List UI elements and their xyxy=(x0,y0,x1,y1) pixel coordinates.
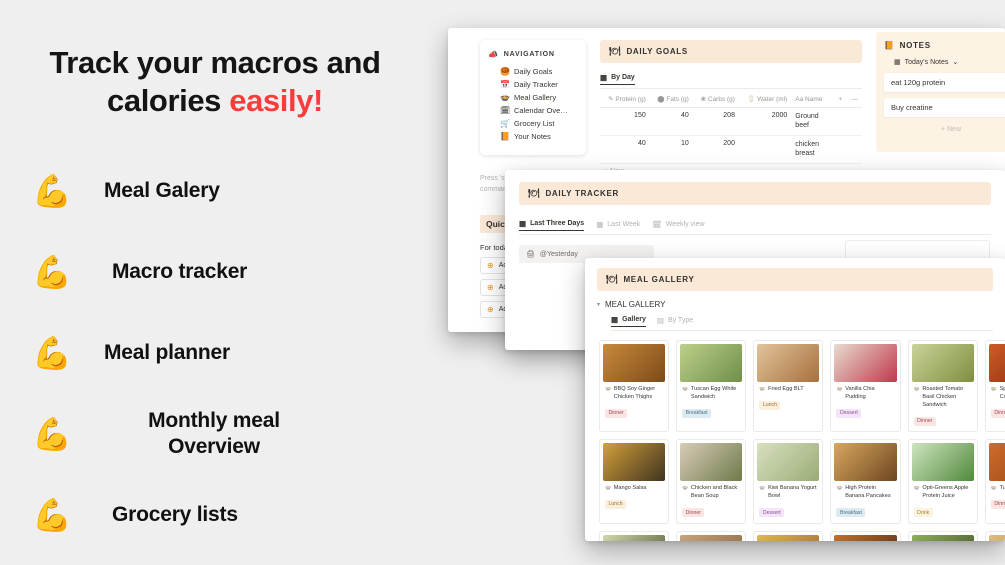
cell-water[interactable]: 2000 xyxy=(739,108,791,136)
meal-card[interactable]: 🍲Vanilla Chia PuddingDessert xyxy=(830,340,900,432)
tab-label: Gallery xyxy=(622,316,646,323)
notes-items: eat 120g proteinBuy creatine xyxy=(884,73,1005,117)
status-badge: Dinner xyxy=(991,500,1005,509)
status-badge: Drink xyxy=(914,508,933,517)
note-item-2[interactable]: Buy creatine xyxy=(884,98,1005,117)
feature-item-1: 💪Meal Galery xyxy=(0,150,430,231)
meal-thumbnail xyxy=(834,443,896,481)
meal-thumbnail xyxy=(912,535,974,541)
tab-label: By Day xyxy=(611,74,635,81)
headline-accent: easily! xyxy=(229,83,323,118)
headline-line-2: calories xyxy=(107,83,229,118)
meal-icon: 🍲 xyxy=(914,484,920,492)
cell-carbs[interactable]: 200 xyxy=(693,135,739,163)
nav-glyph-icon: 📙 xyxy=(500,132,509,141)
chevron-down-icon: ⌄ xyxy=(952,58,958,66)
feature-label: Macro tracker xyxy=(104,259,247,285)
cell-protein[interactable]: 150 xyxy=(600,108,650,136)
view-icon: ▤ xyxy=(657,316,664,325)
navigation-items: 🥮Daily Goals📅Daily Tracker🍲Meal Gallery🗓… xyxy=(488,65,578,143)
meal-title: 🍲BBQ Soy Ginger Chicken Thighs xyxy=(603,385,665,401)
meal-title: 🍲Roasted Tomato Basil Chicken Sandwich xyxy=(912,385,974,409)
column-type-icon: ✎ xyxy=(608,96,613,103)
meal-icon: 🍲 xyxy=(605,385,611,393)
meal-title: 🍲Fried Egg BLT xyxy=(757,385,819,393)
daily-goals-banner: 🍽 DAILY GOALS xyxy=(600,40,862,63)
meal-thumbnail xyxy=(989,535,1005,541)
meal-icon: 🍲 xyxy=(682,385,688,393)
page-title: Track your macros and calories easily! xyxy=(0,44,430,120)
feature-item-4: 💪Monthly meal Overview xyxy=(0,393,430,474)
cell-name[interactable]: chicken breast xyxy=(791,135,833,163)
feature-list: 💪Meal Galery💪Macro tracker💪Meal planner💪… xyxy=(0,150,430,555)
tab-label: Weekly view xyxy=(666,221,705,228)
nav-glyph-icon: 🍲 xyxy=(500,93,509,102)
meal-thumbnail xyxy=(757,443,819,481)
sidebar-item-grocery-list[interactable]: 🛒Grocery List xyxy=(488,117,578,130)
meal-thumbnail xyxy=(680,443,742,481)
meal-gallery-grid: 🍲BBQ Soy Ginger Chicken ThighsDinner🍲Tus… xyxy=(585,331,1005,541)
daily-goals-table: ✎ Protein (g)⬤ Fats (g)❀ Carbs (g)🥛 Wate… xyxy=(600,91,862,164)
meal-icon: 🍲 xyxy=(991,385,997,393)
meal-title: 🍲Turkey Taco Skil… xyxy=(989,484,1005,492)
meal-gallery-tabs: ▦Gallery▤By Type xyxy=(611,315,993,331)
status-badge: Dinner xyxy=(605,409,627,418)
flexed-biceps-icon: 💪 xyxy=(0,175,104,207)
navigation-title: 📣 NAVIGATION xyxy=(488,50,578,59)
column-type-icon: Aa xyxy=(795,96,803,103)
meal-thumbnail xyxy=(834,344,896,382)
status-badge: Breakfast xyxy=(682,409,711,418)
cell-water[interactable] xyxy=(739,135,791,163)
nav-glyph-icon: 🥮 xyxy=(500,67,509,76)
meal-card[interactable]: 🍲Opti-Greens Apple Protein JuiceDrink xyxy=(908,439,978,523)
meal-gallery-body: 🍽 MEAL GALLERY ▾ MEAL GALLERY ▦Gallery▤B… xyxy=(585,258,1005,331)
cell-fats[interactable]: 40 xyxy=(650,108,693,136)
flexed-biceps-icon: 💪 xyxy=(0,337,104,369)
plus-circle-icon: ⊕ xyxy=(487,261,494,270)
sidebar-item-label: Grocery List xyxy=(514,119,554,128)
plate-icon: 🍽 xyxy=(606,274,617,285)
note-item-1[interactable]: eat 120g protein xyxy=(884,73,1005,92)
meal-card[interactable]: 🍲Mango SalsaLunch xyxy=(599,439,669,523)
sidebar-item-meal-gallery[interactable]: 🍲Meal Gallery xyxy=(488,91,578,104)
tab-weekly-view[interactable]: 🗓Weekly view xyxy=(652,220,704,231)
daily-tracker-banner: 🍽 DAILY TRACKER xyxy=(519,182,991,205)
sidebar-item-label: Your Notes xyxy=(514,132,551,141)
meal-gallery-window: 🍽 MEAL GALLERY ▾ MEAL GALLERY ▦Gallery▤B… xyxy=(585,258,1005,541)
headline-line-1: Track your macros and xyxy=(49,45,380,80)
view-icon: ▦ xyxy=(600,73,607,82)
meal-icon: 🍲 xyxy=(836,385,842,393)
column-header-name[interactable]: Aa Name xyxy=(791,91,833,108)
flexed-biceps-icon: 💪 xyxy=(0,418,104,450)
navigation-card: 📣 NAVIGATION 🥮Daily Goals📅Daily Tracker🍲… xyxy=(480,40,586,155)
meal-title: 🍲Spiced Tomato & Coconut Chicken xyxy=(989,385,1005,401)
column-header-carbs-g[interactable]: ❀ Carbs (g) xyxy=(693,91,739,108)
meal-thumbnail xyxy=(757,535,819,541)
notebook-icon: 📙 xyxy=(884,41,895,50)
daily-goals-header-row: ✎ Protein (g)⬤ Fats (g)❀ Carbs (g)🥛 Wate… xyxy=(600,91,862,108)
meal-thumbnail xyxy=(912,344,974,382)
meal-title: 🍲Mango Salsa xyxy=(603,484,665,492)
meal-gallery-banner: 🍽 MEAL GALLERY xyxy=(597,268,993,291)
meal-thumbnail xyxy=(757,344,819,382)
meal-thumbnail xyxy=(989,344,1005,382)
meal-thumbnail xyxy=(680,535,742,541)
status-badge: Lunch xyxy=(605,500,626,509)
tab-gallery[interactable]: ▦Gallery xyxy=(611,315,646,327)
feature-item-2: 💪Macro tracker xyxy=(0,231,430,312)
meal-thumbnail xyxy=(834,535,896,541)
daily-goals-body: 150402082000Ground beef4010200chicken br… xyxy=(600,108,862,164)
promo-panel: Track your macros and calories easily! 💪… xyxy=(0,0,445,565)
meal-thumbnail xyxy=(680,344,742,382)
meal-card[interactable]: 🍲Fried Egg BLTLunch xyxy=(753,340,823,432)
more-options-button[interactable]: — xyxy=(846,91,862,108)
column-header-protein-g[interactable]: ✎ Protein (g) xyxy=(600,91,650,108)
caret-down-icon: ▾ xyxy=(597,301,600,308)
meal-icon: 🍲 xyxy=(682,484,688,492)
megaphone-icon: 📣 xyxy=(488,50,499,59)
status-badge: Dessert xyxy=(759,508,784,517)
meal-title: 🍲Tuscan Egg White Sandwich xyxy=(680,385,742,401)
meal-thumbnail xyxy=(603,535,665,541)
feature-item-5: 💪Grocery lists xyxy=(0,474,430,555)
status-badge: Dinner xyxy=(991,409,1005,418)
column-type-icon: ❀ xyxy=(701,96,706,103)
flexed-biceps-icon: 💪 xyxy=(0,256,104,288)
meal-thumbnail xyxy=(603,443,665,481)
meal-icon: 🍲 xyxy=(914,385,920,393)
tab-label: Last Three Days xyxy=(530,220,584,227)
sidebar-item-label: Daily Tracker xyxy=(514,80,558,89)
tab-by-day[interactable]: ▦By Day xyxy=(600,73,635,85)
column-type-icon: ⬤ xyxy=(657,96,664,103)
notes-card: 📙 NOTES ▦ Today's Notes ⌄ eat 120g prote… xyxy=(876,32,1005,152)
meal-card[interactable]: 🍲Turkey Taco Skil…Dinner xyxy=(985,439,1005,523)
plus-circle-icon: ⊕ xyxy=(487,305,494,314)
column-header-water-ml[interactable]: 🥛 Water (ml) xyxy=(739,91,791,108)
sidebar-item-label: Daily Goals xyxy=(514,67,552,76)
view-icon: 🗓 xyxy=(652,220,662,229)
notes-subpage-link[interactable]: ▦ Today's Notes ⌄ xyxy=(894,58,1005,66)
sidebar-item-calendar-ove[interactable]: 🗓Calendar Ove… xyxy=(488,104,578,117)
sidebar-item-daily-goals[interactable]: 🥮Daily Goals xyxy=(488,65,578,78)
cell-protein[interactable]: 40 xyxy=(600,135,650,163)
printer-icon: 🖨 xyxy=(526,250,535,258)
view-icon: ▦ xyxy=(519,219,526,228)
tab-by-type[interactable]: ▤By Type xyxy=(657,316,693,327)
table-row[interactable]: 4010200chicken breast xyxy=(600,135,862,163)
meal-card[interactable]: 🍲Chicken and Black Bean SoupDinner xyxy=(676,439,746,523)
plus-circle-icon: ⊕ xyxy=(487,283,494,292)
meal-title: 🍲Kiwi Banana Yogurt Bowl xyxy=(757,484,819,500)
meal-card[interactable]: 🍲Breakfast BowlBreakfast xyxy=(753,531,823,541)
nav-glyph-icon: 🛒 xyxy=(500,119,509,128)
daily-goals-section: 🍽 DAILY GOALS ▦By Day ✎ Protein (g)⬤ Fat… xyxy=(600,40,862,179)
feature-label: Meal planner xyxy=(104,340,230,366)
status-badge: Lunch xyxy=(759,401,780,410)
tab-last-three-days[interactable]: ▦Last Three Days xyxy=(519,219,584,231)
meal-card[interactable]: 🍲Coffee Protein SmoothieDrink xyxy=(676,531,746,541)
tab-label: Last Week xyxy=(607,221,640,228)
meal-card[interactable]: 🍲High Protein Banana PancakesBreakfast xyxy=(830,439,900,523)
tab-label: By Type xyxy=(668,317,693,324)
meal-card[interactable]: 🍲Roasted Tomato Basil Chicken SandwichDi… xyxy=(908,340,978,432)
daily-tracker-tabs: ▦Last Three Days▦Last Week🗓Weekly view xyxy=(519,219,991,235)
meal-card[interactable]: 🍲Spiced Tomato & Coconut ChickenDinner xyxy=(985,340,1005,432)
cell-name[interactable]: Ground beef xyxy=(791,108,833,136)
nav-glyph-icon: 📅 xyxy=(500,80,509,89)
view-icon: ▦ xyxy=(596,220,603,229)
daily-goals-tabs: ▦By Day xyxy=(600,73,862,89)
meal-card[interactable]: 🍲SchnitzelDinner xyxy=(985,531,1005,541)
meal-icon: 🍲 xyxy=(991,484,997,492)
meal-card[interactable]: 🍲Tuscan Egg White SandwichBreakfast xyxy=(676,340,746,432)
feature-label: Meal Galery xyxy=(104,178,220,204)
nav-glyph-icon: 🗓 xyxy=(500,106,509,115)
tab-last-week[interactable]: ▦Last Week xyxy=(596,220,640,231)
plate-icon: 🍽 xyxy=(609,46,620,57)
notes-title: 📙 NOTES xyxy=(884,41,1005,50)
sidebar-item-your-notes[interactable]: 📙Your Notes xyxy=(488,130,578,143)
meal-thumbnail xyxy=(912,443,974,481)
sidebar-item-label: Meal Gallery xyxy=(514,93,556,102)
column-type-icon: 🥛 xyxy=(747,96,755,103)
table-row[interactable]: 150402082000Ground beef xyxy=(600,108,862,136)
status-badge: Breakfast xyxy=(836,508,865,517)
meal-icon: 🍲 xyxy=(759,484,765,492)
meal-card[interactable]: 🍲Lemon Asparagus Pasta with Feta (vegeta… xyxy=(599,531,669,541)
meal-icon: 🍲 xyxy=(836,484,842,492)
cell-fats[interactable]: 10 xyxy=(650,135,693,163)
flexed-biceps-icon: 💪 xyxy=(0,499,104,531)
meal-card[interactable]: 🍲Steak and Sweet Potato SkilletDinner xyxy=(830,531,900,541)
meal-card[interactable]: 🍲Kiwi Banana Yogurt BowlDessert xyxy=(753,439,823,523)
meal-title: 🍲High Protein Banana Pancakes xyxy=(834,484,896,500)
meal-thumbnail xyxy=(603,344,665,382)
sidebar-item-label: Calendar Ove… xyxy=(514,106,568,115)
status-badge: Dinner xyxy=(914,417,936,426)
meal-icon: 🍲 xyxy=(759,385,765,393)
meal-card[interactable]: 🍲Chicken and Broccoli Stir FryDinner xyxy=(908,531,978,541)
meal-icon: 🍲 xyxy=(605,484,611,492)
grid-icon: ▦ xyxy=(894,58,901,66)
notes-new-button[interactable]: + New xyxy=(884,123,1005,133)
add-column-button[interactable]: + xyxy=(833,91,846,108)
meal-gallery-toggle[interactable]: ▾ MEAL GALLERY xyxy=(597,300,993,309)
view-icon: ▦ xyxy=(611,315,618,324)
feature-label: Grocery lists xyxy=(104,502,238,528)
column-header-fats-g[interactable]: ⬤ Fats (g) xyxy=(650,91,693,108)
status-badge: Dinner xyxy=(682,508,704,517)
feature-item-3: 💪Meal planner xyxy=(0,312,430,393)
meal-title: 🍲Vanilla Chia Pudding xyxy=(834,385,896,401)
sidebar-item-daily-tracker[interactable]: 📅Daily Tracker xyxy=(488,78,578,91)
plate-icon: 🍽 xyxy=(528,188,539,199)
meal-thumbnail xyxy=(989,443,1005,481)
meal-card[interactable]: 🍲BBQ Soy Ginger Chicken ThighsDinner xyxy=(599,340,669,432)
meal-title: 🍲Opti-Greens Apple Protein Juice xyxy=(912,484,974,500)
status-badge: Dessert xyxy=(836,409,861,418)
cell-carbs[interactable]: 208 xyxy=(693,108,739,136)
feature-label: Monthly meal Overview xyxy=(104,408,324,459)
meal-title: 🍲Chicken and Black Bean Soup xyxy=(680,484,742,500)
